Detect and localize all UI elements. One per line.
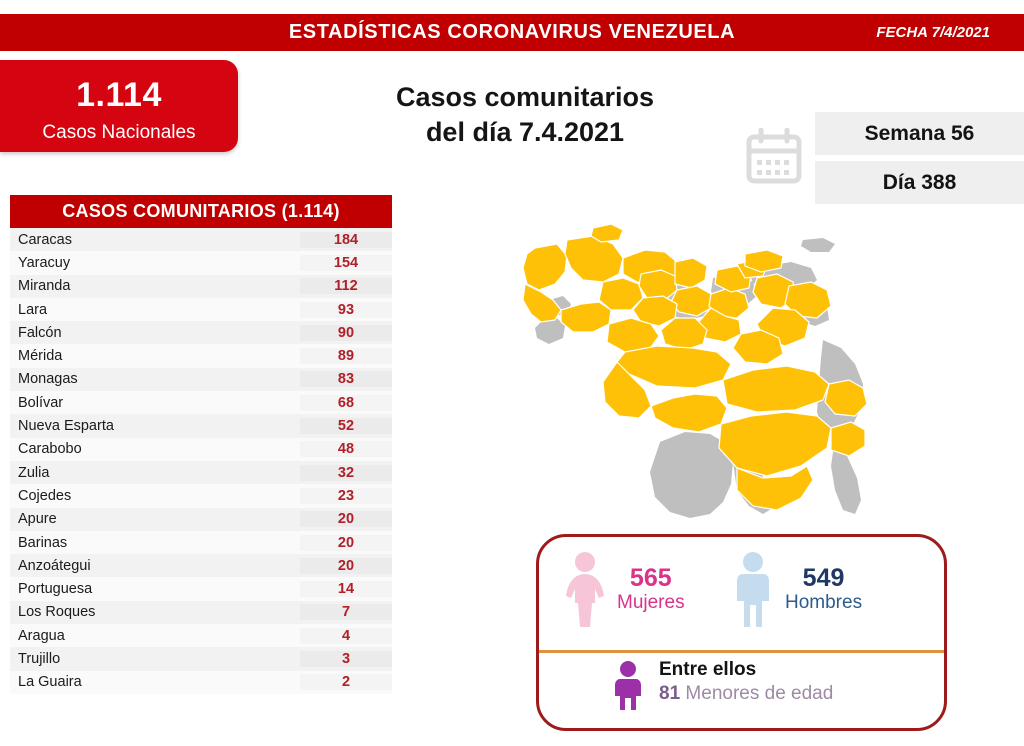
table-cell-state: Barinas [10, 535, 300, 551]
community-cases-title: Casos comunitarios del día 7.4.2021 [330, 80, 720, 149]
table-row: Falcón90 [10, 321, 392, 344]
table-row: Bolívar68 [10, 391, 392, 414]
table-cell-value: 23 [300, 488, 392, 504]
community-cases-table: CASOS COMUNITARIOS (1.114) Caracas184Yar… [10, 195, 392, 694]
table-row: Miranda112 [10, 275, 392, 298]
header-bar: ESTADÍSTICAS CORONAVIRUS VENEZUELA FECHA… [0, 14, 1024, 51]
gender-stats-card: 565 Mujeres 549 Hombres [536, 534, 947, 731]
table-cell-state: Caracas [10, 232, 300, 248]
table-row: Caracas184 [10, 228, 392, 251]
gender-top-section: 565 Mujeres 549 Hombres [539, 537, 944, 650]
table-cell-state: Anzoátegui [10, 558, 300, 574]
community-cases-title-line2: del día 7.4.2021 [330, 115, 720, 150]
male-icon [729, 551, 777, 629]
table-cell-value: 184 [300, 232, 392, 248]
minors-count: 81 [659, 683, 680, 704]
table-cell-state: La Guaira [10, 674, 300, 690]
table-row: Mérida89 [10, 344, 392, 367]
week-counter: Semana 56 [815, 112, 1024, 155]
table-cell-value: 89 [300, 348, 392, 364]
child-icon [611, 660, 645, 712]
table-body: Caracas184Yaracuy154Miranda112Lara93Falc… [10, 228, 392, 694]
page-title: ESTADÍSTICAS CORONAVIRUS VENEZUELA [0, 14, 1024, 51]
women-count: 565 [617, 565, 685, 591]
table-row: Trujillo3 [10, 647, 392, 670]
table-cell-state: Mérida [10, 348, 300, 364]
table-cell-state: Portuguesa [10, 581, 300, 597]
minors-text: Entre ellos 81 Menores de edad [659, 658, 833, 706]
table-cell-value: 112 [300, 278, 392, 294]
table-row: Carabobo48 [10, 438, 392, 461]
women-label: Mujeres [617, 592, 685, 615]
table-cell-value: 48 [300, 441, 392, 457]
table-cell-state: Nueva Esparta [10, 418, 300, 434]
table-cell-state: Miranda [10, 278, 300, 294]
week-day-panel: Semana 56 Día 388 [740, 112, 1024, 204]
calendar-icon [745, 128, 803, 186]
day-counter: Día 388 [815, 161, 1024, 204]
table-cell-value: 4 [300, 628, 392, 644]
table-row: Lara93 [10, 298, 392, 321]
men-stat: 549 Hombres [729, 551, 862, 629]
table-row: Cojedes23 [10, 484, 392, 507]
table-cell-value: 20 [300, 511, 392, 527]
national-cases-label: Casos Nacionales [0, 112, 238, 142]
table-cell-value: 90 [300, 325, 392, 341]
table-row: Barinas20 [10, 531, 392, 554]
minors-line2: 81 Menores de edad [659, 682, 833, 707]
table-cell-state: Monagas [10, 371, 300, 387]
table-cell-value: 154 [300, 255, 392, 271]
community-cases-title-line1: Casos comunitarios [330, 80, 720, 115]
table-row: Yaracuy154 [10, 251, 392, 274]
minors-line1: Entre ellos [659, 658, 833, 682]
table-cell-value: 52 [300, 418, 392, 434]
table-row: Aragua4 [10, 624, 392, 647]
table-cell-value: 68 [300, 395, 392, 411]
minors-label: Menores de edad [685, 683, 833, 704]
table-cell-state: Trujillo [10, 651, 300, 667]
table-row: La Guaira2 [10, 671, 392, 694]
minors-section: Entre ellos 81 Menores de edad [539, 650, 944, 722]
table-cell-state: Falcón [10, 325, 300, 341]
table-row: Nueva Esparta52 [10, 414, 392, 437]
table-cell-value: 14 [300, 581, 392, 597]
table-row: Anzoátegui20 [10, 554, 392, 577]
men-label: Hombres [785, 592, 862, 615]
table-cell-state: Bolívar [10, 395, 300, 411]
table-cell-state: Carabobo [10, 441, 300, 457]
table-cell-state: Aragua [10, 628, 300, 644]
table-row: Portuguesa14 [10, 577, 392, 600]
table-cell-state: Lara [10, 302, 300, 318]
table-cell-value: 3 [300, 651, 392, 667]
female-icon [561, 551, 609, 629]
women-stat: 565 Mujeres [561, 551, 685, 629]
men-count: 549 [785, 565, 862, 591]
table-cell-value: 32 [300, 465, 392, 481]
table-cell-state: Zulia [10, 465, 300, 481]
table-cell-state: Yaracuy [10, 255, 300, 271]
table-cell-state: Apure [10, 511, 300, 527]
table-cell-value: 2 [300, 674, 392, 690]
header-date: FECHA 7/4/2021 [876, 14, 990, 51]
table-row: Los Roques7 [10, 601, 392, 624]
table-header: CASOS COMUNITARIOS (1.114) [10, 195, 392, 228]
national-cases-number: 1.114 [0, 60, 238, 112]
table-cell-state: Cojedes [10, 488, 300, 504]
table-cell-value: 20 [300, 535, 392, 551]
table-row: Apure20 [10, 508, 392, 531]
table-cell-value: 7 [300, 604, 392, 620]
table-cell-value: 93 [300, 302, 392, 318]
table-cell-value: 83 [300, 371, 392, 387]
table-row: Zulia32 [10, 461, 392, 484]
table-cell-state: Los Roques [10, 604, 300, 620]
venezuela-map [505, 222, 1005, 522]
table-cell-value: 20 [300, 558, 392, 574]
national-cases-badge: 1.114 Casos Nacionales [0, 60, 238, 152]
table-row: Monagas83 [10, 368, 392, 391]
